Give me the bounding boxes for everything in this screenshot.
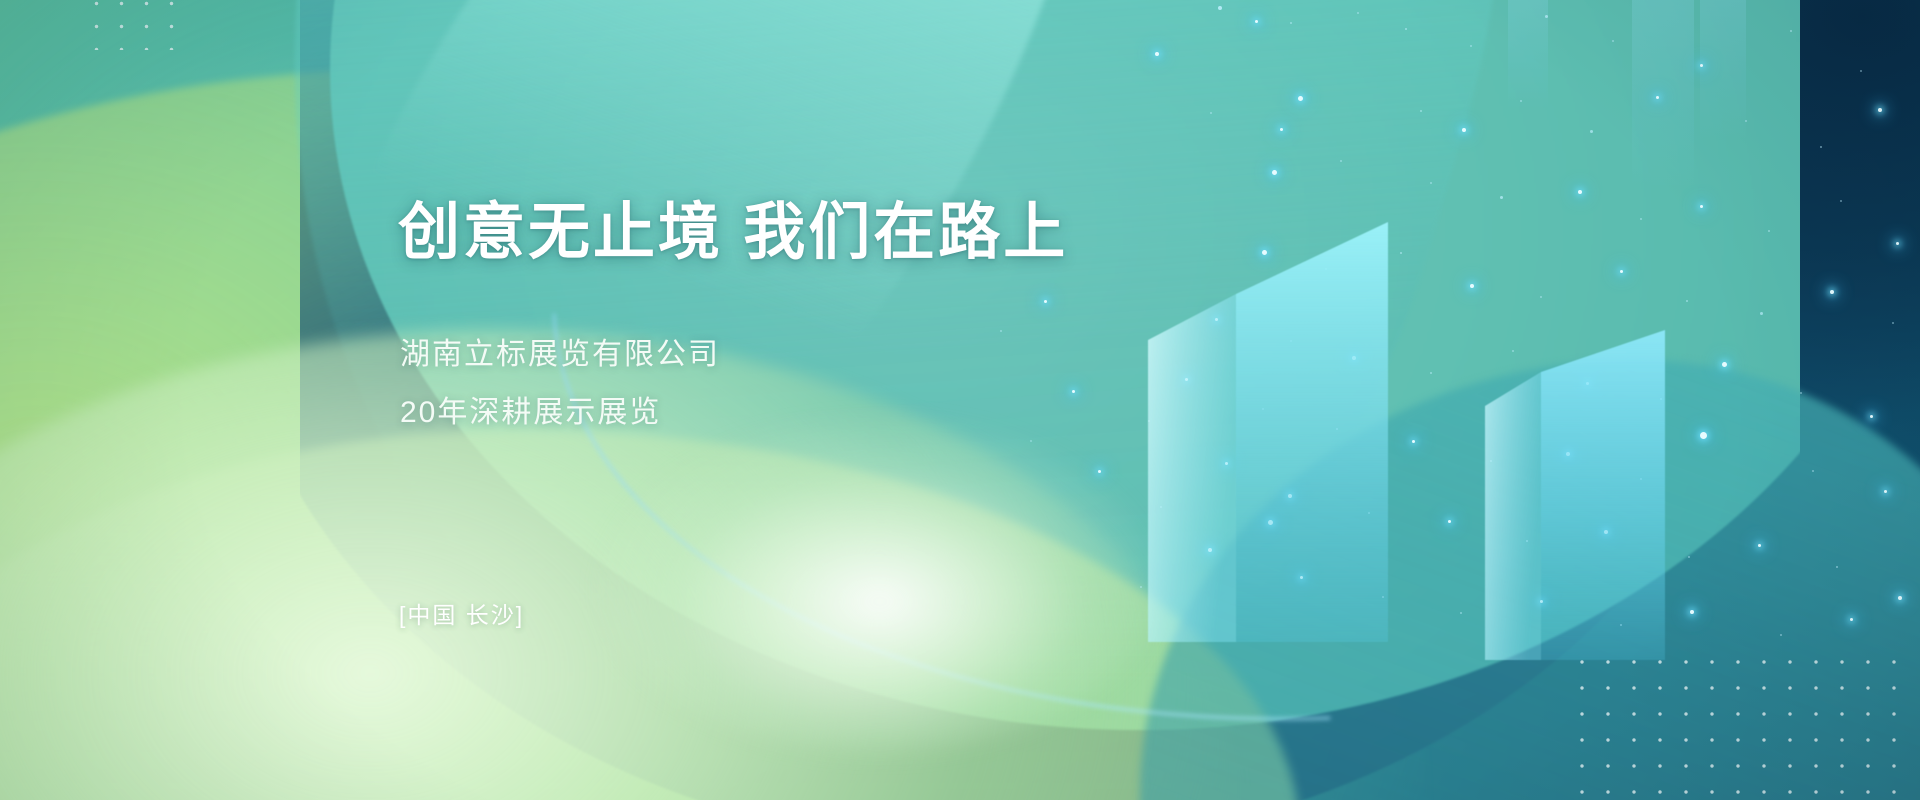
banner-content: 创意无止境 我们在路上 湖南立标展览有限公司 20年深耕展示展览 [中国 长沙] [398, 0, 1298, 800]
promo-banner: 创意无止境 我们在路上 湖南立标展览有限公司 20年深耕展示展览 [中国 长沙] [0, 0, 1920, 800]
banner-subtitle-line-2: 20年深耕展示展览 [400, 398, 661, 428]
banner-headline: 创意无止境 我们在路上 [398, 202, 1068, 264]
banner-subtitle-line-1: 湖南立标展览有限公司 [400, 340, 720, 370]
decorative-band-3 [1508, 0, 1548, 110]
decorative-band-1 [1632, 0, 1694, 190]
dot-grid-top-left [80, 0, 184, 50]
banner-location: [中国 长沙] [399, 604, 524, 627]
decorative-band-2 [1700, 0, 1746, 140]
